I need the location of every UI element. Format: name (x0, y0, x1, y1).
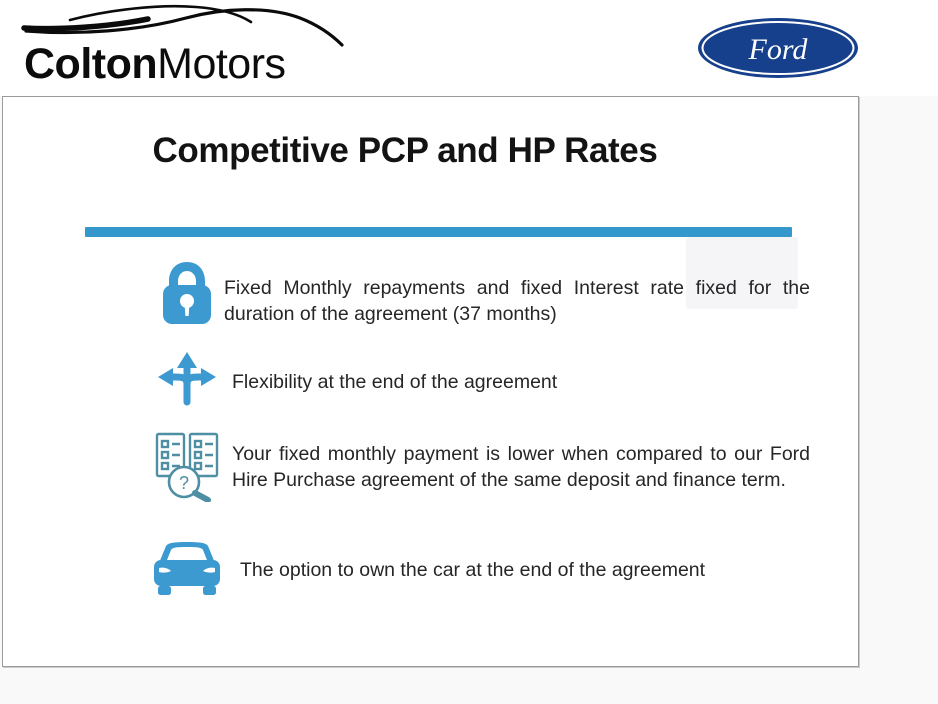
question-mark-glyph: ? (179, 473, 189, 493)
benefits-list: Fixed Monthly repayments and fixed Inter… (150, 258, 830, 598)
page-header: ColtonMotors Ford (0, 0, 938, 96)
list-item: ? Your fixed monthly payment is lower wh… (150, 426, 810, 502)
dealer-name-light: Motors (157, 40, 285, 88)
three-way-arrows-icon (150, 348, 224, 410)
list-item: Flexibility at the end of the agreement (150, 348, 810, 410)
car-front-icon (150, 536, 224, 598)
ford-oval-logo[interactable]: Ford (697, 17, 859, 79)
list-item-label: The option to own the car at the end of … (224, 536, 810, 584)
ford-logo-text: Ford (748, 33, 809, 66)
dealer-name-bold: Colton (24, 40, 157, 88)
dealer-logo[interactable]: ColtonMotors (18, 4, 348, 90)
list-item-label: Fixed Monthly repayments and fixed Inter… (224, 258, 810, 327)
slide-canvas: ColtonMotors Ford Competitive PCP and HP… (0, 0, 938, 704)
compare-lists-magnifier-icon: ? (150, 426, 224, 502)
title-divider (85, 227, 792, 237)
list-item: Fixed Monthly repayments and fixed Inter… (150, 258, 810, 327)
dealer-wordmark: ColtonMotors (24, 40, 286, 88)
list-item-label: Your fixed monthly payment is lower when… (224, 426, 810, 493)
list-item-label: Flexibility at the end of the agreement (224, 348, 810, 396)
page-title: Competitive PCP and HP Rates (60, 126, 750, 176)
padlock-icon (150, 258, 224, 326)
list-item: The option to own the car at the end of … (150, 536, 810, 598)
